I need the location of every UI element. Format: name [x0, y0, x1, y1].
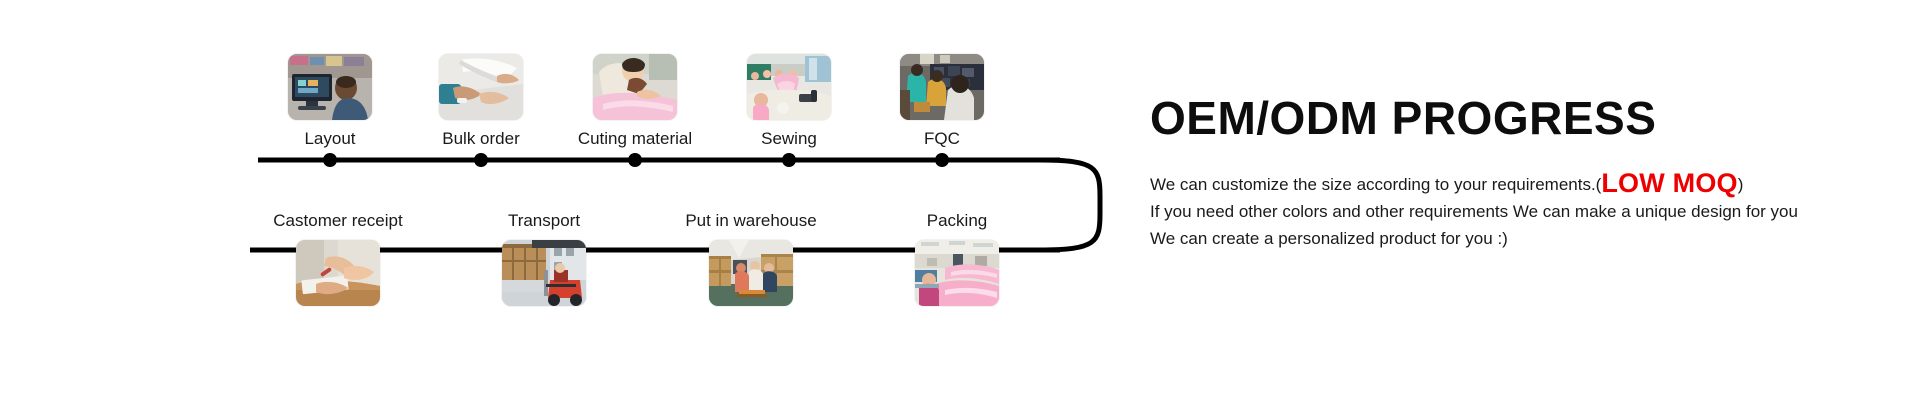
info-line-1-prefix: We can customize the size according to y…: [1150, 175, 1601, 194]
timeline-dot: [782, 153, 796, 167]
timeline-rail-uturn: [1040, 160, 1100, 250]
low-moq-badge: LOW MOQ: [1601, 168, 1737, 198]
photo-layout-designer-at-computer: [288, 54, 372, 120]
timeline-step-label: Cuting material: [545, 129, 725, 149]
photo-final-quality-control-inspection: [900, 54, 984, 120]
timeline-step-castomer-receipt[interactable]: Castomer receipt: [248, 211, 428, 306]
info-description: We can customize the size according to y…: [1150, 170, 1890, 252]
timeline-step-label: Castomer receipt: [248, 211, 428, 231]
timeline-step-cuting-material[interactable]: Cuting material: [545, 54, 725, 149]
timeline-step-bulk-order[interactable]: Bulk order: [391, 54, 571, 149]
photo-woman-cutting-pink-fabric: [593, 54, 677, 120]
info-panel: OEM/ODM PROGRESS We can customize the si…: [1150, 92, 1890, 252]
page-title: OEM/ODM PROGRESS: [1150, 92, 1890, 144]
timeline-step-label: Bulk order: [391, 129, 571, 149]
timeline-step-label: Packing: [867, 211, 1047, 231]
timeline-dot: [628, 153, 642, 167]
timeline-step-put-in-warehouse[interactable]: Put in warehouse: [661, 211, 841, 306]
oem-odm-progress-banner: Layout Bulk order: [0, 0, 1920, 400]
timeline-dot: [323, 153, 337, 167]
info-line-2: If you need other colors and other requi…: [1150, 198, 1890, 225]
timeline-step-transport[interactable]: Transport: [454, 211, 634, 306]
photo-forklift-loading-truck: [502, 240, 586, 306]
photo-packing-pink-garments: [915, 240, 999, 306]
timeline-step-packing[interactable]: Packing: [867, 211, 1047, 306]
timeline-step-label: Put in warehouse: [661, 211, 841, 231]
photo-sewing-factory-line: [747, 54, 831, 120]
timeline-step-label: Transport: [454, 211, 634, 231]
info-line-1-suffix: ): [1738, 175, 1744, 194]
timeline-dot: [935, 153, 949, 167]
process-timeline: Layout Bulk order: [0, 0, 1120, 400]
photo-workers-in-warehouse: [709, 240, 793, 306]
info-line-3: We can create a personalized product for…: [1150, 225, 1890, 252]
timeline-step-label: FQC: [852, 129, 1032, 149]
photo-customer-signing-receipt-box: [296, 240, 380, 306]
photo-bulk-order-handshake-paper: [439, 54, 523, 120]
timeline-step-fqc[interactable]: FQC: [852, 54, 1032, 149]
info-line-1: We can customize the size according to y…: [1150, 170, 1890, 198]
timeline-dot: [474, 153, 488, 167]
